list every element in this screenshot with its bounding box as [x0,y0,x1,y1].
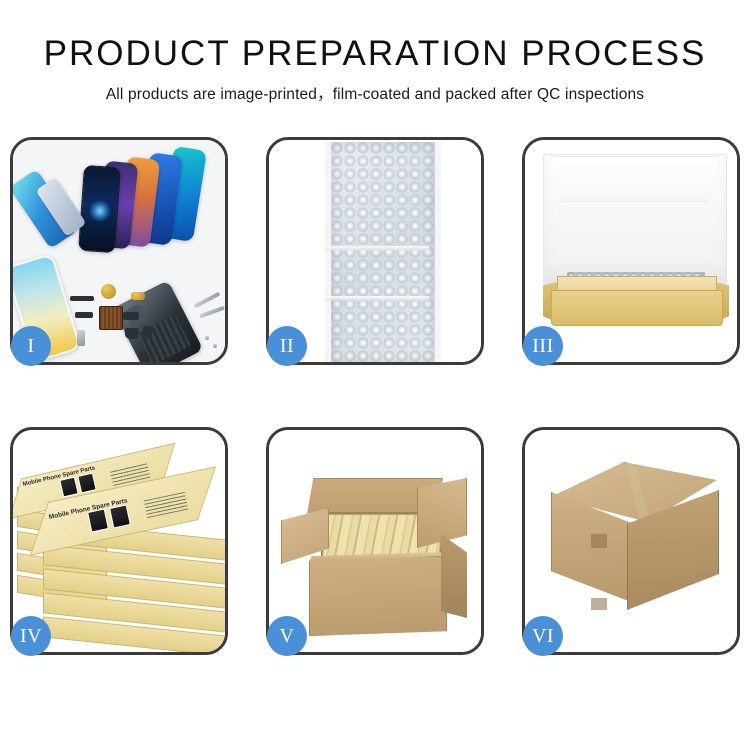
bubble-wrap-sleeve [325,142,441,362]
camera-module-part [123,312,139,320]
step-panel-5: V [266,427,484,655]
inner-box-front [551,290,723,326]
step-image-6 [525,430,737,652]
phone-front-5 [78,165,121,253]
bubble-wrap-seal-top [325,246,429,251]
carton-hand-hole-upper [591,534,607,548]
step-badge-6: VI [523,616,563,656]
step-panel-1: I [10,137,228,365]
connector-part [131,292,145,300]
step-panel-4: Mobile Phone Spare Parts Mobile Phone Sp… [10,427,228,655]
screw-part-1 [205,336,209,340]
step-badge-2: II [267,326,307,366]
page-title: PRODUCT PREPARATION PROCESS [0,36,750,73]
step-panel-6: VI [522,427,740,655]
white-lid-flap [551,156,719,202]
step-badge-3: III [523,326,563,366]
page-header: PRODUCT PREPARATION PROCESS All products… [0,0,750,104]
speaker-part [125,328,139,339]
step-badge-4: IV [11,616,51,656]
page-subtitle: All products are image-printed，film-coat… [0,82,750,104]
step-panel-2: II [266,137,484,365]
retail-box-stack: Mobile Phone Spare Parts Mobile Phone Sp… [13,430,225,652]
screw-part-2 [213,344,217,348]
carton-front-face [309,556,447,636]
carton-hand-hole-lower [591,598,607,610]
step-image-2 [269,140,481,362]
process-steps-grid: I II III [10,137,740,655]
carton-side-face [441,534,467,618]
step-badge-5: V [267,616,307,656]
step-panel-3: III [522,137,740,365]
step-image-3 [525,140,737,362]
step-image-5 [269,430,481,652]
flex-cable-part [70,296,94,301]
bubble-wrap-seal-bottom [325,296,429,301]
step-image-4: Mobile Phone Spare Parts Mobile Phone Sp… [13,430,225,652]
vibrator-coil-part [101,284,116,299]
button-flex-part [75,312,93,318]
step-image-1 [13,140,225,362]
chip-grid-part [99,306,123,330]
battery-connector-part [143,326,152,339]
sim-tray-part [77,330,85,346]
step-badge-1: I [11,326,51,366]
